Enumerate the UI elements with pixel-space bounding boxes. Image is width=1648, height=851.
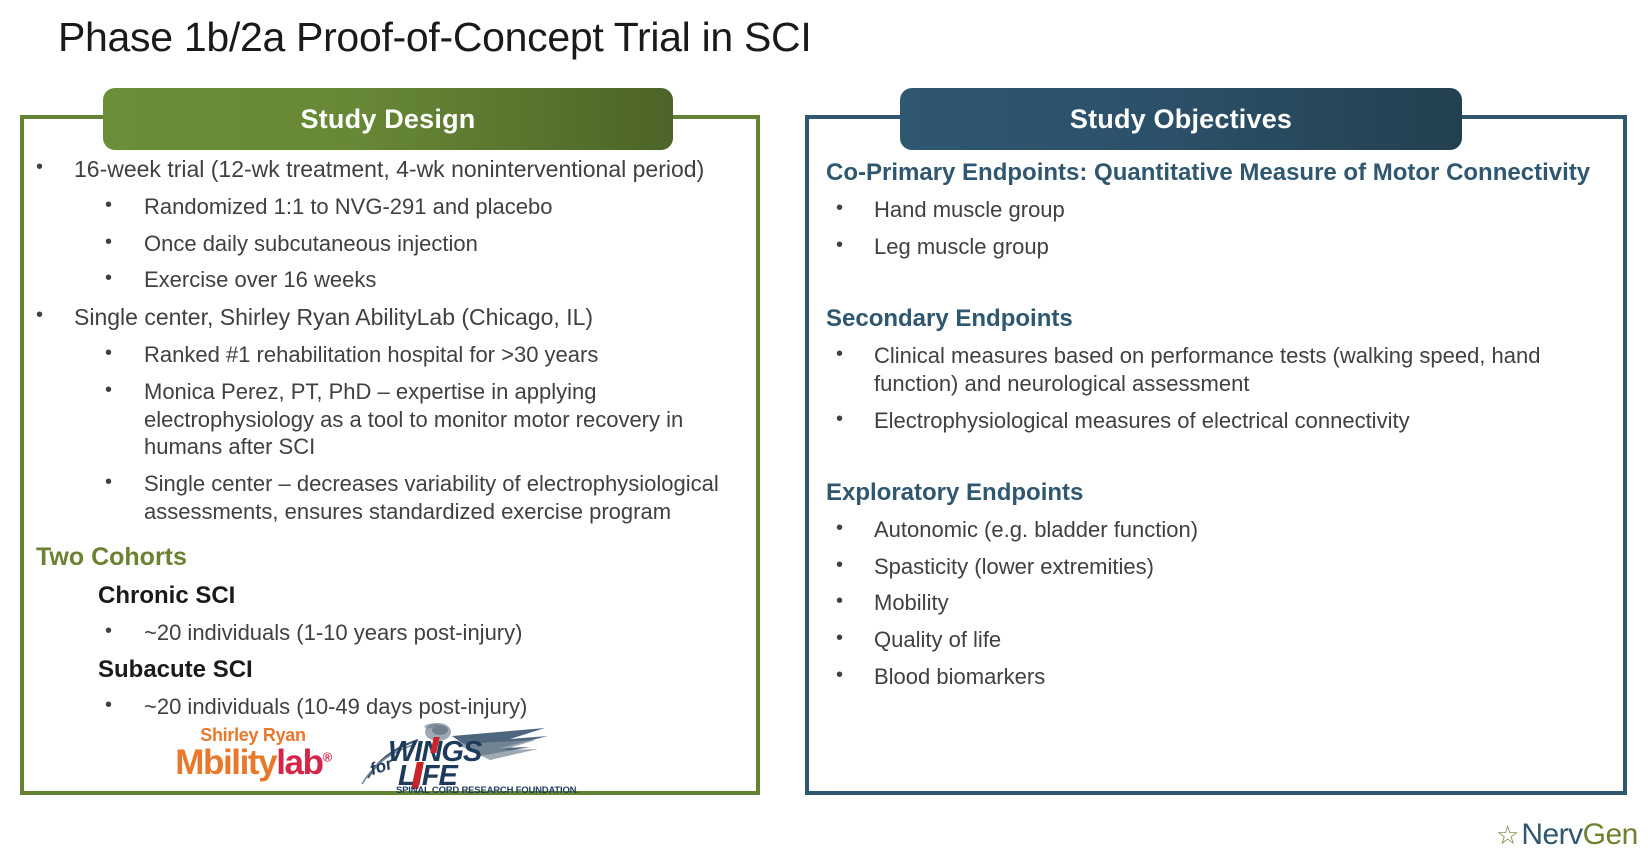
list-item: • Electrophysiological measures of elect… <box>826 407 1616 435</box>
study-objectives-content: Co-Primary Endpoints: Quantitative Measu… <box>826 158 1616 700</box>
two-cohorts-heading: Two Cohorts <box>36 543 748 572</box>
list-item: • 16-week trial (12-wk treatment, 4-wk n… <box>36 155 748 184</box>
list-item: • Autonomic (e.g. bladder function) <box>826 516 1616 544</box>
section-heading-co-primary: Co-Primary Endpoints: Quantitative Measu… <box>826 158 1616 188</box>
list-item: • Mobility <box>826 589 1616 617</box>
nervgen-logo: ☆ NervGen <box>1496 820 1638 850</box>
bullet-icon: • <box>836 196 874 221</box>
bullet-icon: • <box>105 470 144 495</box>
study-objectives-header: Study Objectives <box>900 88 1462 150</box>
section-heading-exploratory: Exploratory Endpoints <box>826 478 1616 508</box>
cohort-title-chronic: Chronic SCI <box>36 582 748 610</box>
list-item: • Once daily subcutaneous injection <box>36 230 748 258</box>
shirley-ryan-logo-line1: Shirley Ryan <box>160 726 346 744</box>
list-item: • Monica Perez, PT, PhD – expertise in a… <box>36 378 748 461</box>
bullet-icon: • <box>836 233 874 258</box>
list-item: • Hand muscle group <box>826 196 1616 224</box>
nervgen-wordmark-part1: Nerv <box>1521 818 1582 851</box>
bullet-icon: • <box>105 619 144 644</box>
list-item: • Exercise over 16 weeks <box>36 266 748 294</box>
section-spacer <box>826 270 1616 304</box>
bullet-icon: • <box>36 303 74 328</box>
bullet-icon: • <box>836 663 874 688</box>
bullet-icon: • <box>836 589 874 614</box>
bullet-icon: • <box>836 626 874 651</box>
bullet-icon: • <box>105 193 144 218</box>
list-item: • Leg muscle group <box>826 233 1616 261</box>
bullet-icon: • <box>836 516 874 541</box>
list-item: • Clinical measures based on performance… <box>826 342 1616 397</box>
cohort-title-subacute: Subacute SCI <box>36 656 748 684</box>
nervgen-wordmark-part2: Gen <box>1583 818 1638 851</box>
list-item: • Blood biomarkers <box>826 663 1616 691</box>
list-item: • Spasticity (lower extremities) <box>826 553 1616 581</box>
abilitylab-wordmark-orange: Μbility <box>175 743 276 782</box>
list-item: • Single center, Shirley Ryan AbilityLab… <box>36 303 748 332</box>
bullet-icon: • <box>836 407 874 432</box>
abilitylab-wordmark: Μbilitylab® <box>160 745 346 780</box>
partner-logos: Shirley Ryan Μbilitylab® for WINGS LIFE … <box>160 722 590 794</box>
list-item: • Single center – decreases variability … <box>36 470 748 525</box>
study-design-header: Study Design <box>103 88 673 150</box>
abilitylab-wordmark-red: lab <box>276 743 322 782</box>
page-title: Phase 1b/2a Proof-of-Concept Trial in SC… <box>58 14 811 61</box>
bullet-icon: • <box>836 342 874 367</box>
list-item: • Quality of life <box>826 626 1616 654</box>
list-item: • Ranked #1 rehabilitation hospital for … <box>36 341 748 369</box>
list-item: • ~20 individuals (1-10 years post-injur… <box>36 619 748 647</box>
list-item: • Randomized 1:1 to NVG-291 and placebo <box>36 193 748 221</box>
section-spacer <box>826 444 1616 478</box>
registered-mark-icon: ® <box>323 749 331 764</box>
list-item: • ~20 individuals (10-49 days post-injur… <box>36 693 748 721</box>
bullet-icon: • <box>105 341 144 366</box>
bullet-icon: • <box>105 378 144 403</box>
bullet-icon: • <box>105 693 144 718</box>
bullet-icon: • <box>836 553 874 578</box>
wings-for-life-subtitle: SPINAL CORD RESEARCH FOUNDATION. <box>396 785 579 796</box>
bullet-icon: • <box>105 266 144 291</box>
section-heading-secondary: Secondary Endpoints <box>826 304 1616 334</box>
shirley-ryan-abilitylab-logo: Shirley Ryan Μbilitylab® <box>160 726 346 794</box>
star-icon: ☆ <box>1496 822 1519 848</box>
study-design-content: • 16-week trial (12-wk treatment, 4-wk n… <box>36 155 748 730</box>
bullet-icon: • <box>36 155 74 180</box>
bullet-icon: • <box>105 230 144 255</box>
wings-for-life-logo: for WINGS LIFE SPINAL CORD RESEARCH FOUN… <box>360 722 560 794</box>
nervgen-wordmark: NervGen <box>1521 820 1638 850</box>
